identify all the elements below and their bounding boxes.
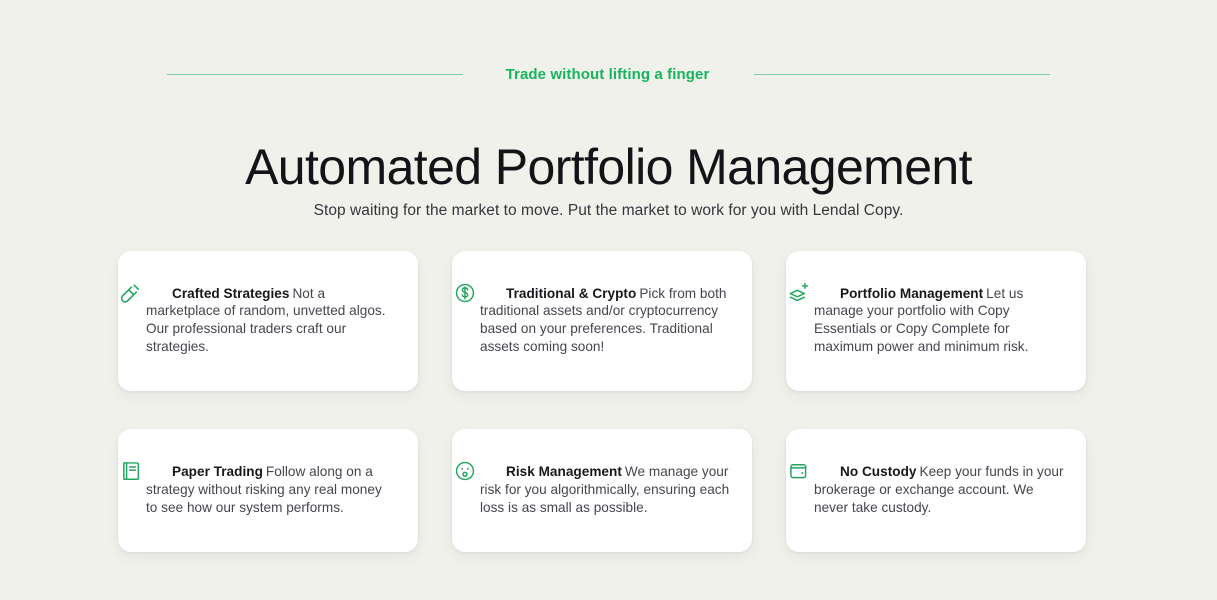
feature-card-title: Risk Management bbox=[506, 464, 622, 479]
feature-card-title: Crafted Strategies bbox=[172, 286, 289, 301]
feature-card-text: No CustodyKeep your funds in your broker… bbox=[814, 463, 1064, 516]
automated-portfolio-management-section: Trade without lifting a finger Automated… bbox=[0, 0, 1217, 600]
feature-card-title: Traditional & Crypto bbox=[506, 286, 636, 301]
eyebrow-row: Trade without lifting a finger bbox=[0, 62, 1217, 86]
feature-card-title: No Custody bbox=[840, 464, 916, 479]
layers-plus-icon bbox=[788, 282, 810, 304]
feature-card-portfolio-management[interactable]: Portfolio ManagementLet us manage your p… bbox=[786, 251, 1086, 391]
feature-card-grid: Crafted StrategiesNot a marketplace of r… bbox=[118, 251, 1086, 552]
page-subtitle: Stop waiting for the market to move. Put… bbox=[0, 200, 1217, 222]
divider-line-left bbox=[167, 74, 463, 75]
feature-card-crafted-strategies[interactable]: Crafted StrategiesNot a marketplace of r… bbox=[118, 251, 418, 391]
feature-card-title: Paper Trading bbox=[172, 464, 263, 479]
divider-line-right bbox=[754, 74, 1050, 75]
feature-card-text: Risk ManagementWe manage your risk for y… bbox=[480, 463, 730, 516]
feature-card-paper-trading[interactable]: Paper TradingFollow along on a strategy … bbox=[118, 429, 418, 552]
feature-card-text: Traditional & CryptoPick from both tradi… bbox=[480, 285, 730, 356]
feature-card-no-custody[interactable]: No CustodyKeep your funds in your broker… bbox=[786, 429, 1086, 552]
wallet-icon bbox=[788, 460, 810, 482]
dollar-circle-icon bbox=[454, 282, 476, 304]
feature-card-text: Paper TradingFollow along on a strategy … bbox=[146, 463, 396, 516]
book-icon bbox=[120, 460, 142, 482]
feature-card-text: Crafted StrategiesNot a marketplace of r… bbox=[146, 285, 396, 356]
test-tube-icon bbox=[120, 282, 142, 304]
feature-card-traditional-and-crypto[interactable]: Traditional & CryptoPick from both tradi… bbox=[452, 251, 752, 391]
page-title: Automated Portfolio Management bbox=[0, 137, 1217, 197]
eyebrow-label: Trade without lifting a finger bbox=[506, 66, 710, 83]
feature-card-risk-management[interactable]: Risk ManagementWe manage your risk for y… bbox=[452, 429, 752, 552]
feature-card-text: Portfolio ManagementLet us manage your p… bbox=[814, 285, 1064, 356]
feature-card-title: Portfolio Management bbox=[840, 286, 983, 301]
astonished-face-icon bbox=[454, 460, 476, 482]
